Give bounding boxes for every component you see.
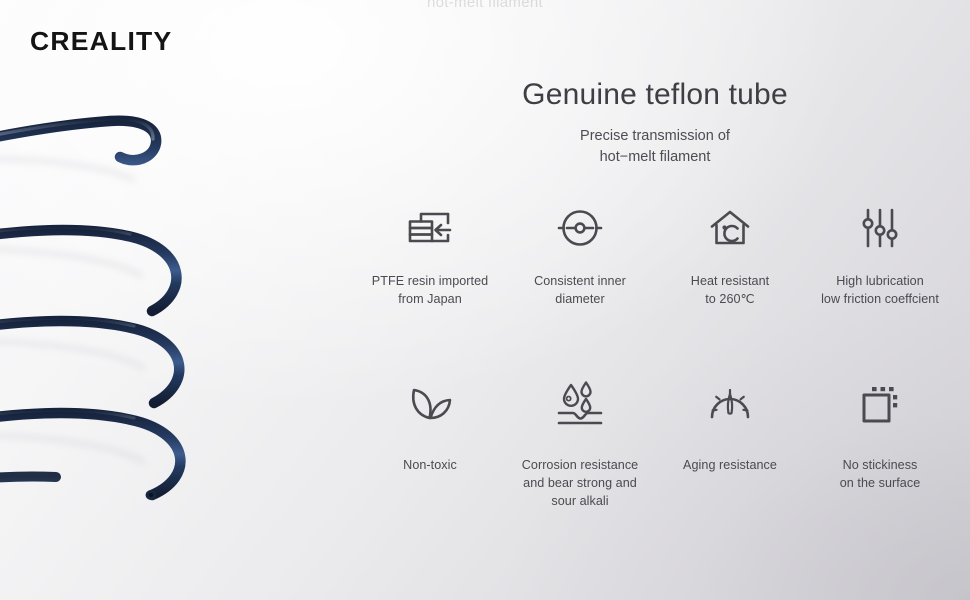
feature-item-no-stickiness: No stickiness on the surface [805, 373, 955, 511]
caption-line-2: low friction coeffcient [821, 292, 939, 306]
top-cropped-text: hot-melt filament [0, 0, 970, 11]
content-column: Genuine teflon tube Precise transmission… [355, 78, 955, 511]
feature-item-lubrication: High lubrication low friction coeffcient [805, 197, 955, 309]
caption-line-2: on the surface [840, 476, 921, 490]
subtitle-line-1: Precise transmission of [580, 128, 730, 144]
feature-item-ptfe-resin: PTFE resin imported from Japan [355, 197, 505, 309]
gauge-icon [703, 373, 757, 435]
caption-line-3: sour alkali [551, 494, 608, 508]
feature-caption: High lubrication low friction coeffcient [821, 273, 939, 309]
feature-item-non-toxic: Non-toxic [355, 373, 505, 511]
feature-item-aging-resistance: Aging resistance [655, 373, 805, 511]
caption-line-1: No stickiness [843, 458, 918, 472]
droplets-surface-icon [553, 373, 607, 435]
feature-caption: PTFE resin imported from Japan [372, 273, 488, 309]
square-dashed-corner-icon [853, 373, 907, 435]
inner-diameter-circle-icon [553, 197, 607, 259]
sliders-icon [853, 197, 907, 259]
caption-line-1: Consistent inner [534, 274, 626, 288]
feature-grid-row-1: PTFE resin imported from Japan [355, 197, 955, 309]
leaves-icon [403, 373, 457, 435]
caption-line-2: from Japan [398, 292, 462, 306]
feature-caption: Non-toxic [403, 457, 457, 475]
subtitle-line-2: hot−melt filament [600, 149, 711, 165]
page-title: Genuine teflon tube [355, 78, 955, 112]
page-subtitle: Precise transmission of hot−melt filamen… [355, 126, 955, 167]
caption-line-1: Corrosion resistance [522, 458, 639, 472]
feature-caption: No stickiness on the surface [840, 457, 921, 493]
feature-caption: Aging resistance [683, 457, 777, 475]
caption-line-1: Non-toxic [403, 458, 457, 472]
caption-line-2: diameter [555, 292, 604, 306]
caption-line-1: PTFE resin imported [372, 274, 488, 288]
product-banner: hot-melt filament CREALITY [0, 0, 970, 600]
creality-logo: CREALITY [30, 26, 172, 57]
caption-line-1: High lubrication [836, 274, 924, 288]
feature-item-corrosion-resistance: Corrosion resistance and bear strong and… [505, 373, 655, 511]
feature-item-inner-diameter: Consistent inner diameter [505, 197, 655, 309]
caption-line-2: to 260℃ [705, 292, 755, 306]
house-celsius-icon [703, 197, 757, 259]
feature-grid-row-2: Non-toxic Corrosion resistance [355, 373, 955, 511]
feature-caption: Corrosion resistance and bear strong and… [522, 457, 639, 511]
feature-item-heat-resistant: Heat resistant to 260℃ [655, 197, 805, 309]
feature-caption: Consistent inner diameter [534, 273, 626, 309]
caption-line-1: Heat resistant [691, 274, 769, 288]
caption-line-1: Aging resistance [683, 458, 777, 472]
caption-line-2: and bear strong and [523, 476, 637, 490]
resin-stack-import-icon [403, 197, 457, 259]
feature-caption: Heat resistant to 260℃ [691, 273, 769, 309]
